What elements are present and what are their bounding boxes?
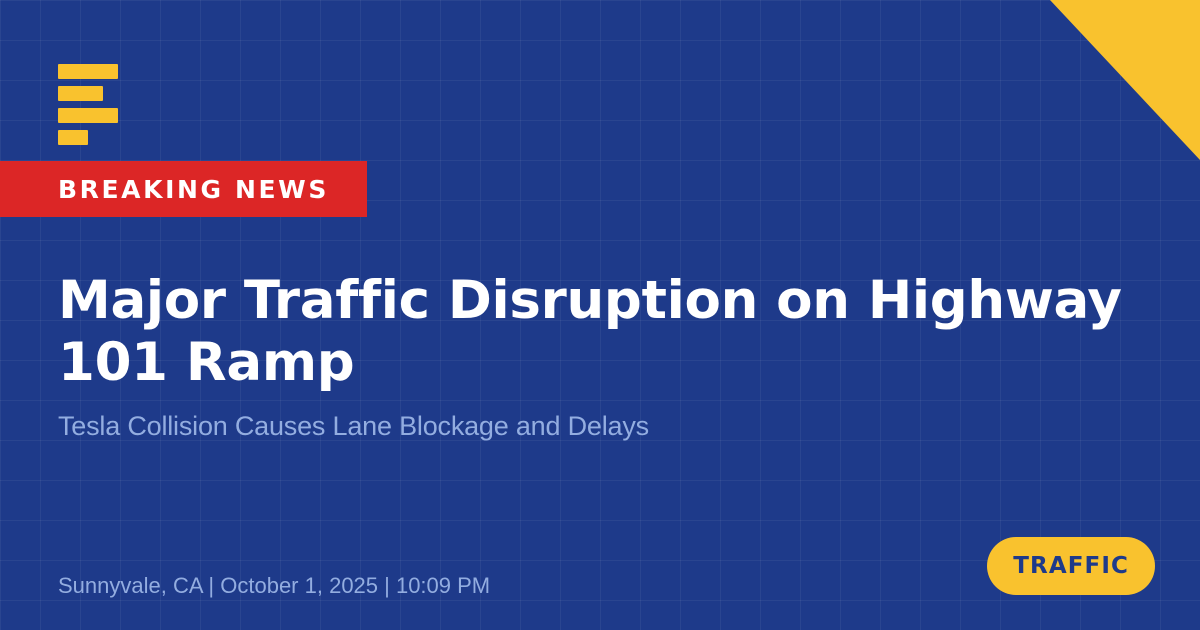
footer-meta-line: Sunnyvale, CA | October 1, 2025 | 10:09 … — [58, 575, 490, 597]
category-badge: TRAFFIC — [987, 537, 1155, 595]
logo-bar-4 — [58, 130, 88, 145]
breaking-news-banner: BREAKING NEWS — [0, 161, 367, 217]
breaking-news-card: BREAKING NEWS Major Traffic Disruption o… — [0, 0, 1200, 630]
logo-bar-3 — [58, 108, 118, 123]
logo-bar-1 — [58, 64, 118, 79]
news-logo-mark — [58, 64, 118, 145]
breaking-news-label: BREAKING NEWS — [58, 177, 329, 202]
logo-bar-2 — [58, 86, 103, 101]
subtitle-text: Tesla Collision Causes Lane Blockage and… — [58, 410, 1058, 444]
page-title: Major Traffic Disruption on Highway 101 … — [58, 270, 1200, 394]
corner-accent-triangle — [1050, 0, 1200, 160]
category-badge-label: TRAFFIC — [1013, 555, 1129, 578]
